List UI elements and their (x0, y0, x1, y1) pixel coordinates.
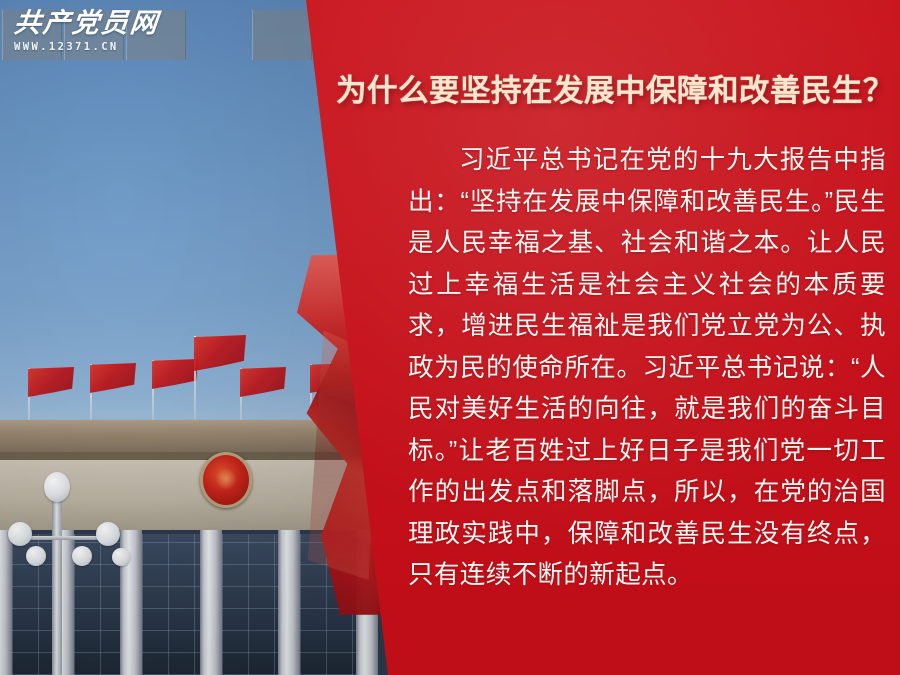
logo-wordmark: 共产党员网 (13, 10, 186, 38)
article-body: 习近平总书记在党的十九大报告中指出：“坚持在发展中保障和改善民生。”民生是人民幸… (408, 140, 886, 597)
poster: 共产党员网 WWW.12371.CN 为什么要坚持在发展中保障和改善民生？ 习近… (0, 0, 900, 675)
logo-url: WWW.12371.CN (14, 41, 184, 53)
page-title: 为什么要坚持在发展中保障和改善民生？ (336, 72, 888, 110)
site-logo[interactable]: 共产党员网 WWW.12371.CN (14, 10, 184, 53)
